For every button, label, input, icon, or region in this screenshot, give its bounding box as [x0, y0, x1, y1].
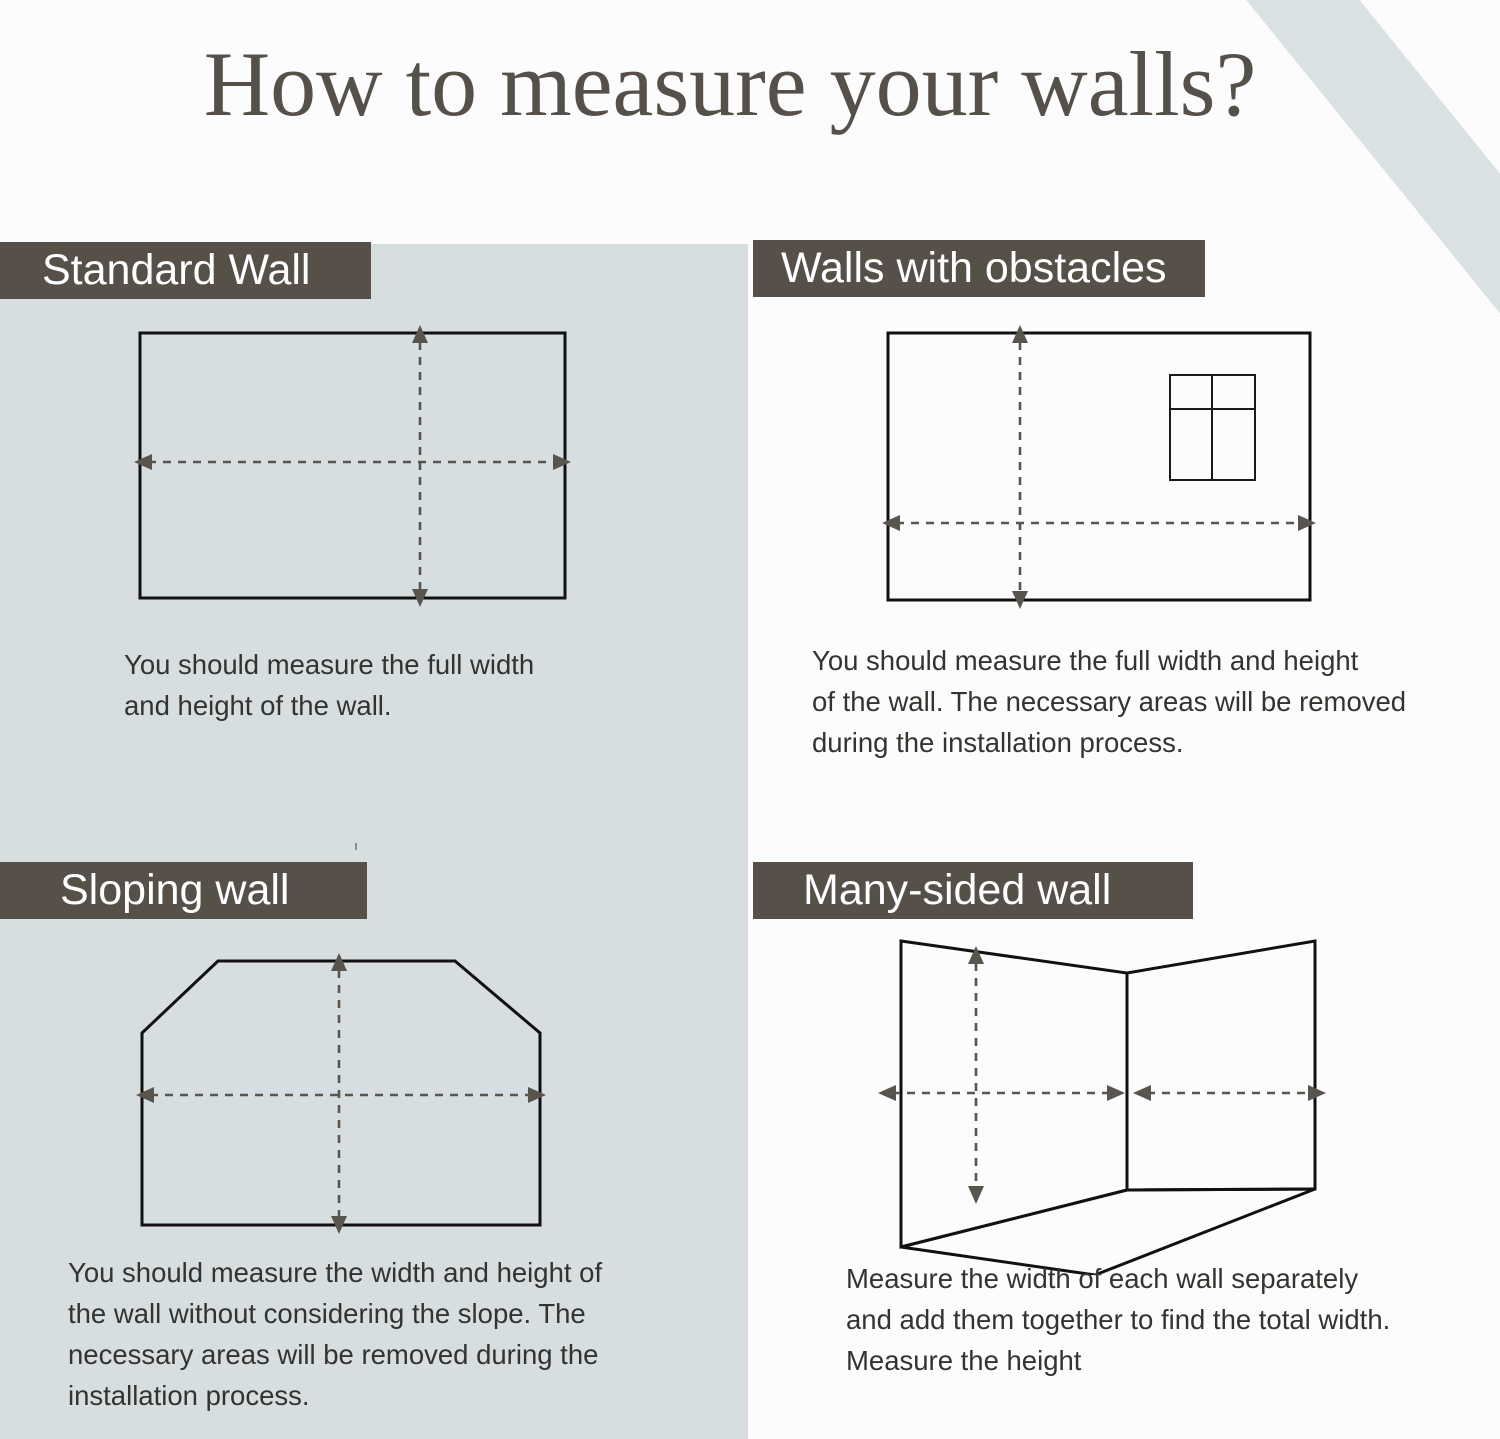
width-left-arrow-end: [1107, 1085, 1125, 1101]
right-wall-panel: [1127, 941, 1315, 1190]
many-sided-wall-diagram: [860, 915, 1360, 1280]
width-arrow-right: [528, 1087, 546, 1103]
wall-with-obstacles-diagram: [850, 310, 1410, 635]
width-left-arrow-start: [878, 1085, 896, 1101]
width-arrow-left: [882, 515, 900, 531]
section-banner-label: Walls with obstacles: [781, 240, 1205, 297]
wall-outline-rect: [888, 333, 1310, 600]
width-right-arrow-end: [1308, 1085, 1326, 1101]
stray-tick-mark: [355, 843, 357, 850]
section-body-many-sided-wall: Measure the width of each wall separatel…: [846, 1258, 1466, 1381]
infographic-canvas: How to measure your walls? Standard Wall…: [0, 0, 1500, 1439]
section-body-sloping-wall: You should measure the width and height …: [68, 1252, 678, 1416]
section-banner-label: Standard Wall: [42, 242, 371, 299]
width-arrow-left: [134, 454, 152, 470]
width-arrow-right: [1298, 515, 1316, 531]
section-banner-label: Many-sided wall: [803, 862, 1193, 919]
height-arrow-top: [968, 946, 984, 964]
wall-outline-hexagon: [142, 961, 540, 1225]
section-banner-walls-with-obstacles: Walls with obstacles: [753, 240, 1205, 297]
width-arrow-left: [136, 1087, 154, 1103]
section-banner-standard-wall: Standard Wall: [0, 242, 371, 299]
width-right-arrow-start: [1133, 1085, 1151, 1101]
section-banner-many-sided-wall: Many-sided wall: [753, 862, 1193, 919]
page-title: How to measure your walls?: [0, 36, 1460, 133]
window-obstacle-icon: [1170, 375, 1255, 480]
section-body-walls-with-obstacles: You should measure the full width and he…: [812, 640, 1472, 763]
sloping-wall-diagram: [100, 925, 660, 1260]
width-arrow-right: [553, 454, 571, 470]
height-arrow-bottom: [968, 1186, 984, 1204]
section-body-standard-wall: You should measure the full width and he…: [124, 644, 644, 726]
section-banner-label: Sloping wall: [60, 862, 367, 919]
wall-outline-rect: [140, 333, 565, 598]
standard-wall-diagram: [100, 310, 660, 635]
section-banner-sloping-wall: Sloping wall: [0, 862, 367, 919]
